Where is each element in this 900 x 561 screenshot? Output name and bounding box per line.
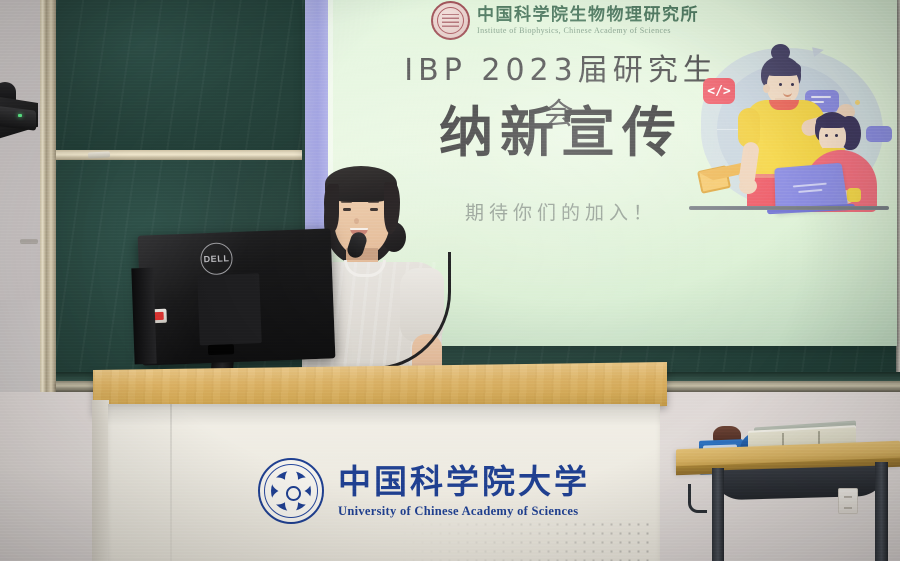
ibp-seal-icon — [431, 1, 470, 40]
lecture-hall-photo: 中国科学院生物物理研究所 Institute of Biophysics, Ch… — [0, 0, 900, 561]
person-left-hair-front — [763, 60, 801, 76]
person-left-hand-lower — [739, 178, 757, 194]
person-left-eye — [779, 83, 782, 86]
sparkle-icon — [855, 100, 860, 105]
slide-title: 纳新宣传 — [401, 88, 721, 167]
monitor-front-edge — [131, 268, 156, 365]
presenter-eyebrow — [368, 201, 379, 203]
presenter-eye — [370, 208, 378, 211]
monitor-port-bay — [208, 344, 234, 355]
person-left-ear — [763, 84, 770, 93]
person-right-eye — [825, 134, 828, 137]
desk-hook — [688, 484, 707, 513]
person-right-cuff — [847, 188, 861, 202]
speaker-power-led-icon — [18, 114, 22, 117]
podium-panel-seam — [170, 404, 172, 561]
person-right-hair-front — [816, 114, 848, 128]
ucas-logo-lockup: 中国科学院大学 University of Chinese Academy of… — [258, 458, 590, 524]
slide-org-name-cn: 中国科学院生物物理研究所 — [477, 7, 699, 24]
podium-top-shadow — [108, 404, 660, 426]
presenter-hair-side-left — [324, 184, 339, 232]
dell-logo-text: DELL — [203, 253, 229, 264]
dell-monitor[interactable]: DELL — [138, 228, 336, 365]
side-desk-apron — [712, 466, 888, 501]
teamwork-illustration: </> — [683, 38, 897, 233]
ucas-seal-disc — [271, 471, 311, 511]
side-desk-leg-left — [712, 468, 724, 561]
ucas-name-en: University of Chinese Academy of Science… — [338, 505, 590, 518]
speech-bubble-small-icon — [866, 126, 892, 142]
chalk-dust — [56, 0, 302, 150]
slide-org-header: 中国科学院生物物理研究所 Institute of Biophysics, Ch… — [431, 1, 699, 40]
side-desk-leg-right — [875, 462, 888, 561]
presenter-eyebrow — [341, 201, 352, 203]
ucas-wordmark: 中国科学院大学 University of Chinese Academy of… — [338, 465, 590, 518]
envelope-icon — [697, 165, 731, 194]
slide-org-text: 中国科学院生物物理研究所 Institute of Biophysics, Ch… — [477, 7, 699, 35]
presenter-nose — [354, 218, 359, 224]
podium-halftone-pattern — [400, 520, 650, 561]
chalk-eraser-secondary — [20, 239, 38, 244]
ucas-seal-icon — [258, 458, 324, 524]
ucas-name-cn: 中国科学院大学 — [338, 465, 590, 498]
wall-speaker-body — [0, 105, 36, 130]
chalkboard-upper-left — [56, 0, 302, 150]
code-badge-icon: </> — [703, 78, 735, 104]
slide-subtitle: 期待你们的加入！ — [401, 198, 721, 225]
chalk-eraser — [88, 151, 110, 158]
person-right-eye — [835, 134, 838, 137]
illustration-desk-line — [689, 206, 889, 210]
presenter-eye — [343, 208, 351, 211]
podium-left-edge — [92, 400, 109, 561]
slide-org-name-en: Institute of Biophysics, Chinese Academy… — [477, 27, 699, 35]
chalkboard-frame-vertical-inner — [46, 0, 56, 400]
wall-outlet — [838, 488, 858, 514]
monitor-vesa-plate — [197, 273, 262, 345]
person-left-eye — [791, 83, 794, 86]
seal-core — [286, 486, 301, 501]
